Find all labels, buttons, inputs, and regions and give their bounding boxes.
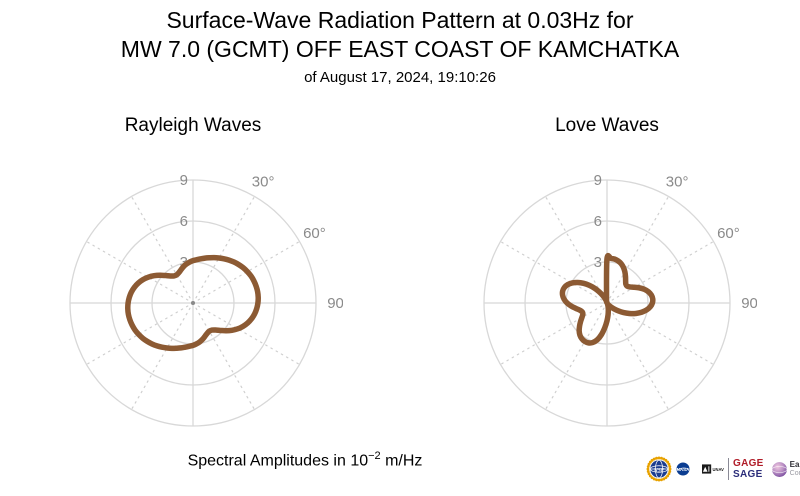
unavco-logo-icon: UNAVCO <box>702 463 724 475</box>
caption-prefix: Spectral Amplitudes in 10 <box>188 452 369 469</box>
svg-text:60°: 60° <box>717 225 740 242</box>
earthscope-sphere-icon <box>771 461 788 478</box>
logo-strip: NSF NASA UNAVCO GAGE SAGE Earth <box>646 452 796 486</box>
title-block: Surface-Wave Radiation Pattern at 0.03Hz… <box>0 6 800 89</box>
svg-text:UNAVCO: UNAVCO <box>713 467 724 472</box>
svg-text:NASA: NASA <box>677 467 691 472</box>
caption-suffix: m/Hz <box>381 452 423 469</box>
radial-tick-labels-love: 369 <box>594 172 602 271</box>
svg-text:3: 3 <box>594 254 602 271</box>
svg-text:90°: 90° <box>741 295 757 312</box>
event-subtitle: of August 17, 2024, 19:10:26 <box>0 67 800 89</box>
panel-title-rayleigh: Rayleigh Waves <box>43 115 343 137</box>
radial-tick-labels-rayleigh: 369 <box>180 172 188 271</box>
svg-text:60°: 60° <box>303 225 326 242</box>
nsf-seal-icon: NSF <box>646 456 672 482</box>
polar-svg-love: 369 30°60°90° <box>457 153 757 453</box>
earthscope-subtitle: Consortium <box>790 469 800 478</box>
gage-label: GAGE <box>733 458 764 469</box>
polar-plot-love: 369 30°60°90° <box>457 153 757 453</box>
earthscope-name: EarthScope <box>790 460 800 469</box>
svg-text:9: 9 <box>594 172 602 189</box>
units-caption: Spectral Amplitudes in 10−2 m/Hz <box>0 450 610 470</box>
svg-text:6: 6 <box>180 213 188 230</box>
earthscope-logo: EarthScope Consortium <box>771 460 800 478</box>
polar-svg-rayleigh: 369 30°60°90° <box>43 153 343 453</box>
svg-text:NSF: NSF <box>653 468 665 474</box>
earthscope-wordmark: EarthScope Consortium <box>790 460 800 478</box>
panel-title-love: Love Waves <box>457 115 757 137</box>
title-line-1: Surface-Wave Radiation Pattern at 0.03Hz… <box>0 6 800 35</box>
polar-plot-rayleigh: 369 30°60°90° <box>43 153 343 453</box>
title-line-2: MW 7.0 (GCMT) OFF EAST COAST OF KAMCHATK… <box>0 35 800 64</box>
svg-text:30°: 30° <box>252 174 275 191</box>
svg-text:90°: 90° <box>327 295 343 312</box>
svg-text:6: 6 <box>594 213 602 230</box>
caption-exponent: −2 <box>368 450 381 462</box>
nasa-logo-icon: NASA <box>676 462 698 476</box>
grid-rayleigh <box>70 180 316 426</box>
sage-label: SAGE <box>733 469 764 480</box>
center-dot-rayleigh <box>191 301 195 305</box>
svg-text:30°: 30° <box>666 174 689 191</box>
gage-sage-logo: GAGE SAGE <box>728 458 764 480</box>
svg-text:9: 9 <box>180 172 188 189</box>
